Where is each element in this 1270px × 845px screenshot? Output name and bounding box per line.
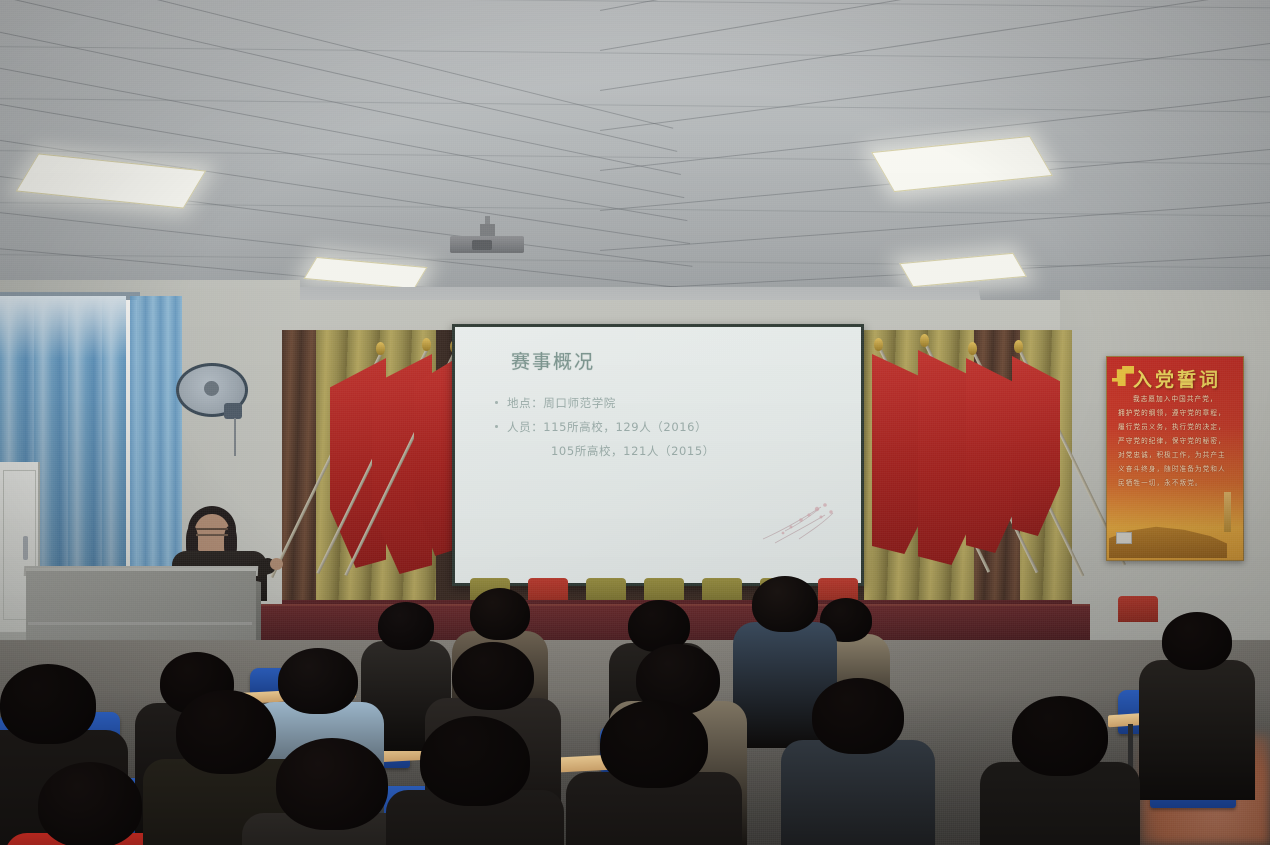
flag-finial xyxy=(376,342,385,355)
ceiling-grid-crossline xyxy=(0,252,1270,271)
audience-member-head xyxy=(420,716,530,806)
audience-member-head xyxy=(378,602,434,650)
poster-oath-line: 义奋斗终身，随时准备为党和人 xyxy=(1118,463,1226,473)
poster-oath-line: 对党忠诚，积极工作，为共产主 xyxy=(1118,449,1226,459)
slide-bullet-marker xyxy=(495,425,498,428)
ceiling-grid-line xyxy=(600,0,1270,51)
poster-oath-line: 我志愿加入中国共产党， xyxy=(1133,393,1218,403)
audience-member-head xyxy=(276,738,388,830)
slide-title: 赛事概况 xyxy=(511,347,595,374)
audience-member-torso xyxy=(781,740,935,845)
slide-bullet-marker xyxy=(495,401,498,404)
cabinet-handle xyxy=(23,536,28,560)
party-oath-poster: 入党誓词 我志愿加入中国共产党，拥护党的纲领，遵守党的章程，履行党员义务，执行党… xyxy=(1106,356,1244,561)
projection-screen-frame: 赛事概况 地点：周口师范学院人员：115所高校，129人（2016）105所高校… xyxy=(452,324,864,586)
glasses-icon xyxy=(196,528,228,536)
ceiling-grid-crossline xyxy=(0,44,1270,63)
stage-curtain-panel xyxy=(282,330,316,610)
poster-oath-line: 民牺牲一切，永不叛党。 xyxy=(1118,477,1203,487)
poster-oath-line: 严守党的纪律，保守党的秘密， xyxy=(1118,435,1226,445)
poster-tower-detail xyxy=(1224,492,1231,532)
ceiling-grid-line xyxy=(600,0,1270,91)
slide-bullet-text: 地点：周口师范学院 xyxy=(507,395,616,411)
ceiling-grid-line xyxy=(0,0,677,152)
projector-icon xyxy=(444,224,530,254)
audience-member-head xyxy=(38,762,142,845)
stage-chair xyxy=(1118,596,1158,622)
audience-member-head xyxy=(470,588,530,640)
ceiling-grid-line xyxy=(600,186,1270,251)
audience-member-head xyxy=(600,700,708,788)
audience-member-head xyxy=(752,576,818,632)
audience-member-head xyxy=(812,678,904,754)
audience-member-head xyxy=(452,642,534,710)
ceiling-grid-crossline xyxy=(0,96,1270,115)
hammer-and-sickle-icon xyxy=(1112,366,1134,386)
wall-outlet xyxy=(1116,532,1132,544)
wall-fan-icon xyxy=(176,363,248,423)
ceiling-grid-crossline xyxy=(0,0,1270,11)
audience-member-torso xyxy=(1139,660,1255,800)
audience-member-head xyxy=(176,690,276,774)
audience-member-head xyxy=(1012,696,1108,776)
flag-finial xyxy=(968,342,977,355)
poster-oath-line: 拥护党的纲领，遵守党的章程， xyxy=(1118,407,1226,417)
presentation-photo: 赛事概况 地点：周口师范学院人员：115所高校，129人（2016）105所高校… xyxy=(0,0,1270,845)
podium-trim xyxy=(28,622,252,625)
ceiling-grid-line xyxy=(600,14,1270,131)
slide-bullet-text: 105所高校，121人（2015） xyxy=(551,443,715,459)
poster-title: 入党誓词 xyxy=(1133,365,1221,392)
flag-finial xyxy=(874,338,883,351)
audience-member-head xyxy=(0,664,96,744)
poster-oath-line: 履行党员义务，执行党的决定， xyxy=(1118,421,1226,431)
flag-finial xyxy=(422,338,431,351)
audience-member-head xyxy=(1162,612,1232,670)
plum-blossom-icon xyxy=(755,487,855,551)
slide-bullet-text: 人员：115所高校，129人（2016） xyxy=(507,419,707,435)
audience-member-head xyxy=(278,648,358,714)
projection-screen: 赛事概况 地点：周口师范学院人员：115所高校，129人（2016）105所高校… xyxy=(455,327,861,583)
flag-finial xyxy=(920,334,929,347)
flag-finial xyxy=(1014,340,1023,353)
